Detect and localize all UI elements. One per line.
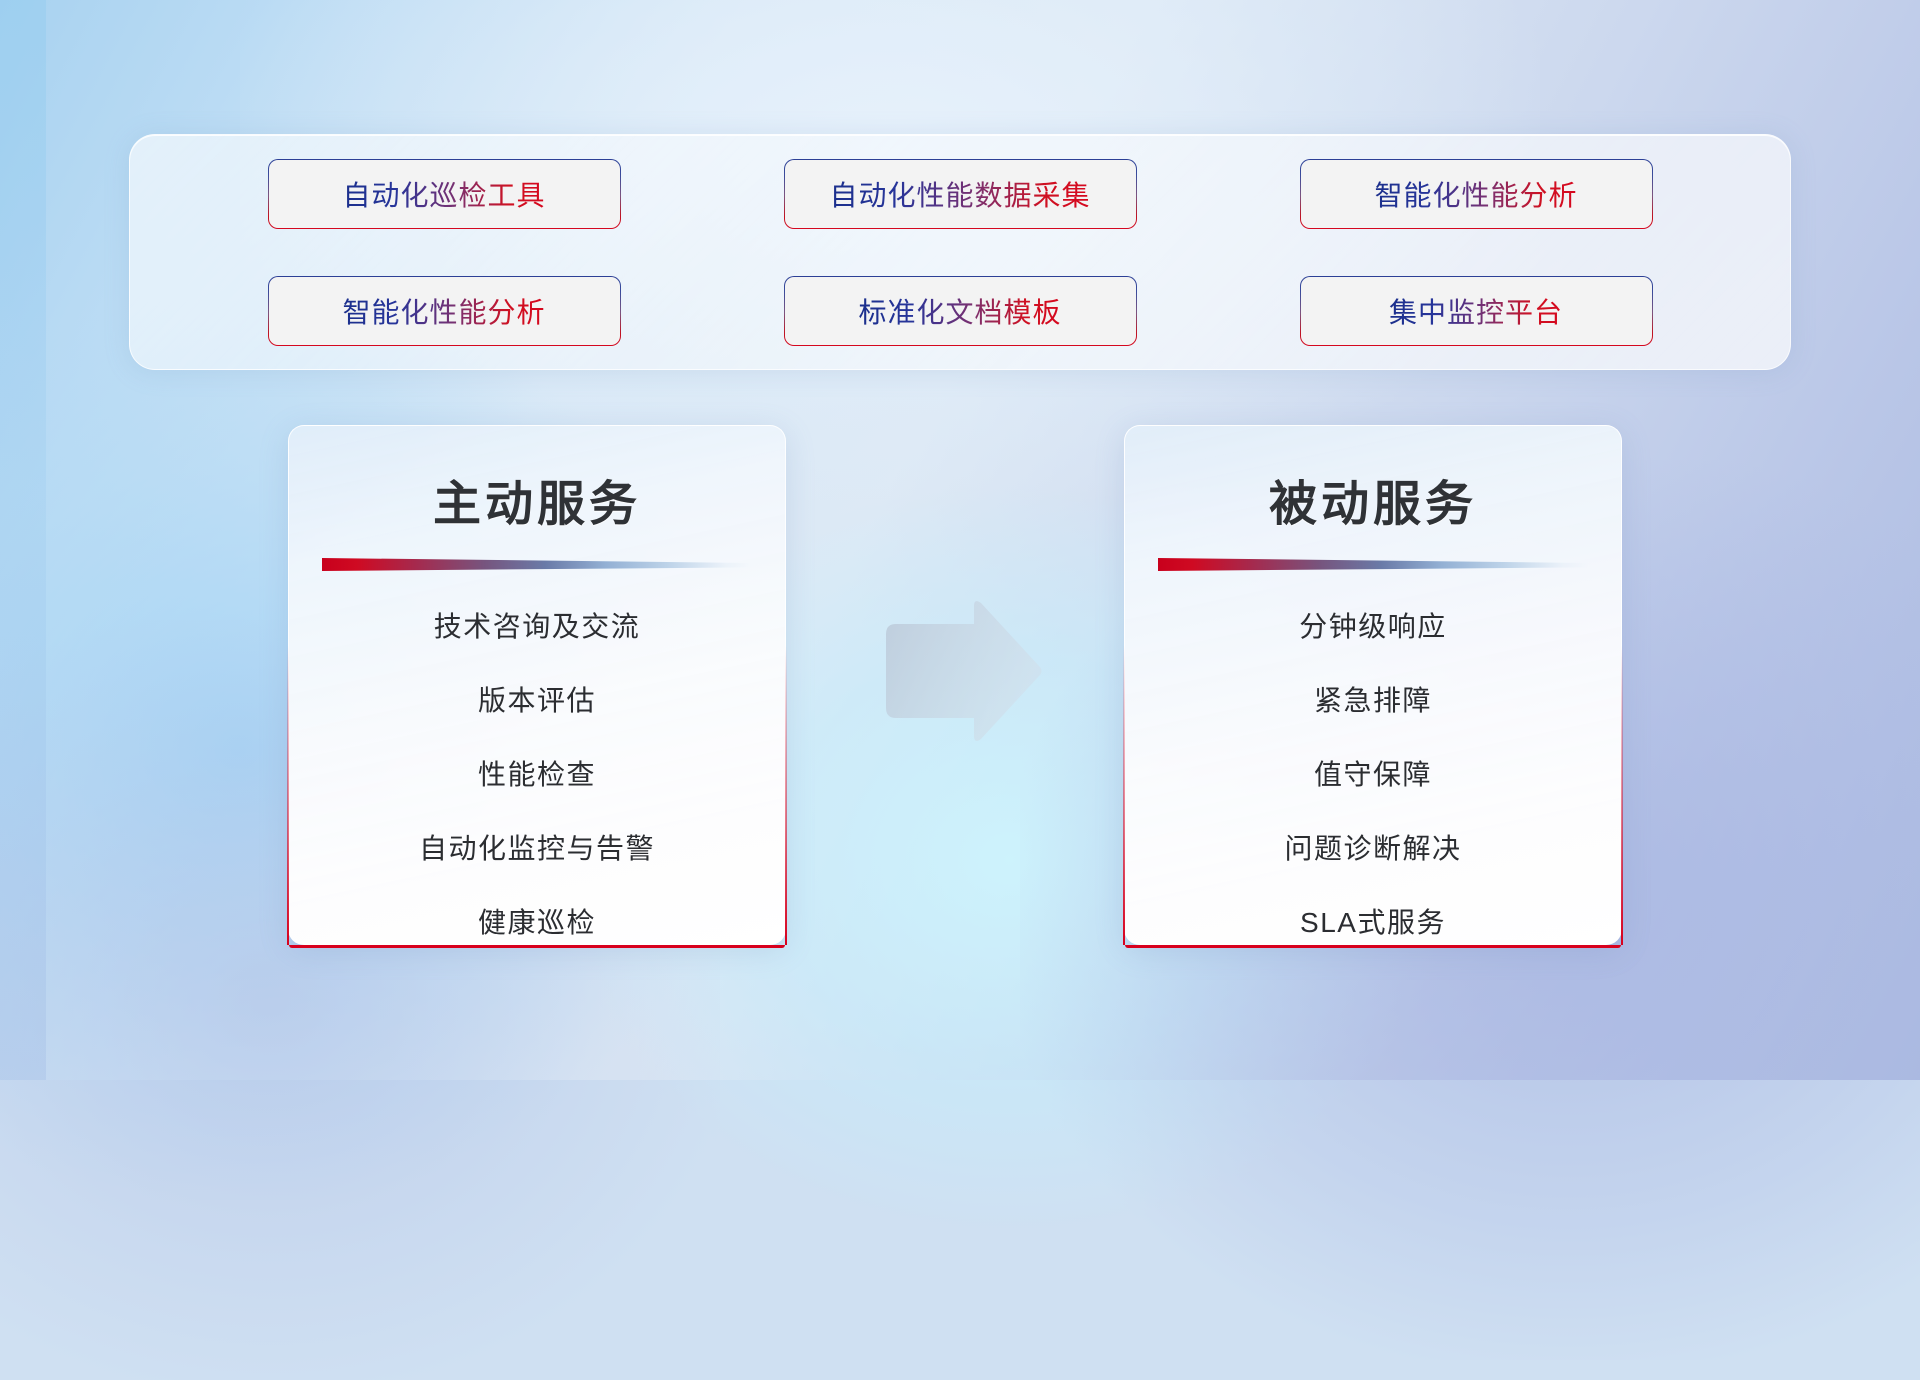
card-accent-right-edge xyxy=(785,645,787,945)
card-accent-bottom-edge xyxy=(1125,945,1621,948)
card-accent-left-edge xyxy=(287,645,289,945)
service-list-item: 问题诊断解决 xyxy=(1125,835,1621,863)
capability-pill-label: 智能化性能分析 xyxy=(1374,174,1577,214)
capability-pill-2[interactable]: 自动化性能数据采集 xyxy=(784,159,1137,229)
service-list-item: 自动化监控与告警 xyxy=(289,835,785,863)
background-left-stripe xyxy=(0,0,46,1080)
card-accent-bottom-edge xyxy=(289,945,785,948)
capability-pill-6[interactable]: 集中监控平台 xyxy=(1300,276,1653,346)
service-list-item: 性能检查 xyxy=(289,761,785,789)
service-list-item: 紧急排障 xyxy=(1125,687,1621,715)
capability-pill-label: 标准化文档模板 xyxy=(858,291,1061,331)
card-accent-right-edge xyxy=(1621,645,1623,945)
capability-pill-label: 智能化性能分析 xyxy=(342,291,545,331)
capability-pill-1[interactable]: 自动化巡检工具 xyxy=(268,159,621,229)
capability-pill-3[interactable]: 智能化性能分析 xyxy=(1300,159,1653,229)
service-item-list: 技术咨询及交流 版本评估 性能检查 自动化监控与告警 健康巡检 xyxy=(289,571,785,937)
card-accent-left-edge xyxy=(1123,645,1125,945)
capability-pill-4[interactable]: 智能化性能分析 xyxy=(268,276,621,346)
capability-panel: 自动化巡检工具 自动化性能数据采集 智能化性能分析 智能化性能分析 标准化文档模… xyxy=(129,134,1791,370)
arrow-right-icon xyxy=(878,600,1046,750)
service-list-item: 分钟级响应 xyxy=(1125,613,1621,641)
card-title: 被动服务 xyxy=(1125,426,1621,534)
service-list-item: 值守保障 xyxy=(1125,761,1621,789)
service-item-list: 分钟级响应 紧急排障 值守保障 问题诊断解决 SLA式服务 xyxy=(1125,571,1621,937)
service-card-reactive[interactable]: 被动服务 分钟级响应 紧急排障 值守保障 问题诊断解决 SLA式服务 xyxy=(1124,425,1622,945)
capability-pill-label: 自动化巡检工具 xyxy=(342,174,545,214)
capability-pill-5[interactable]: 标准化文档模板 xyxy=(784,276,1137,346)
card-divider xyxy=(1158,558,1588,571)
card-divider xyxy=(322,558,752,571)
service-list-item: 版本评估 xyxy=(289,687,785,715)
service-list-item: SLA式服务 xyxy=(1125,909,1621,937)
service-card-proactive[interactable]: 主动服务 技术咨询及交流 版本评估 性能检查 自动化监控与告警 健康巡检 xyxy=(288,425,786,945)
capability-pill-label: 自动化性能数据采集 xyxy=(829,174,1090,214)
card-title: 主动服务 xyxy=(289,426,785,534)
capability-pill-label: 集中监控平台 xyxy=(1389,291,1563,331)
service-list-item: 技术咨询及交流 xyxy=(289,613,785,641)
service-list-item: 健康巡检 xyxy=(289,909,785,937)
capability-pill-grid: 自动化巡检工具 自动化性能数据采集 智能化性能分析 智能化性能分析 标准化文档模… xyxy=(130,135,1790,369)
